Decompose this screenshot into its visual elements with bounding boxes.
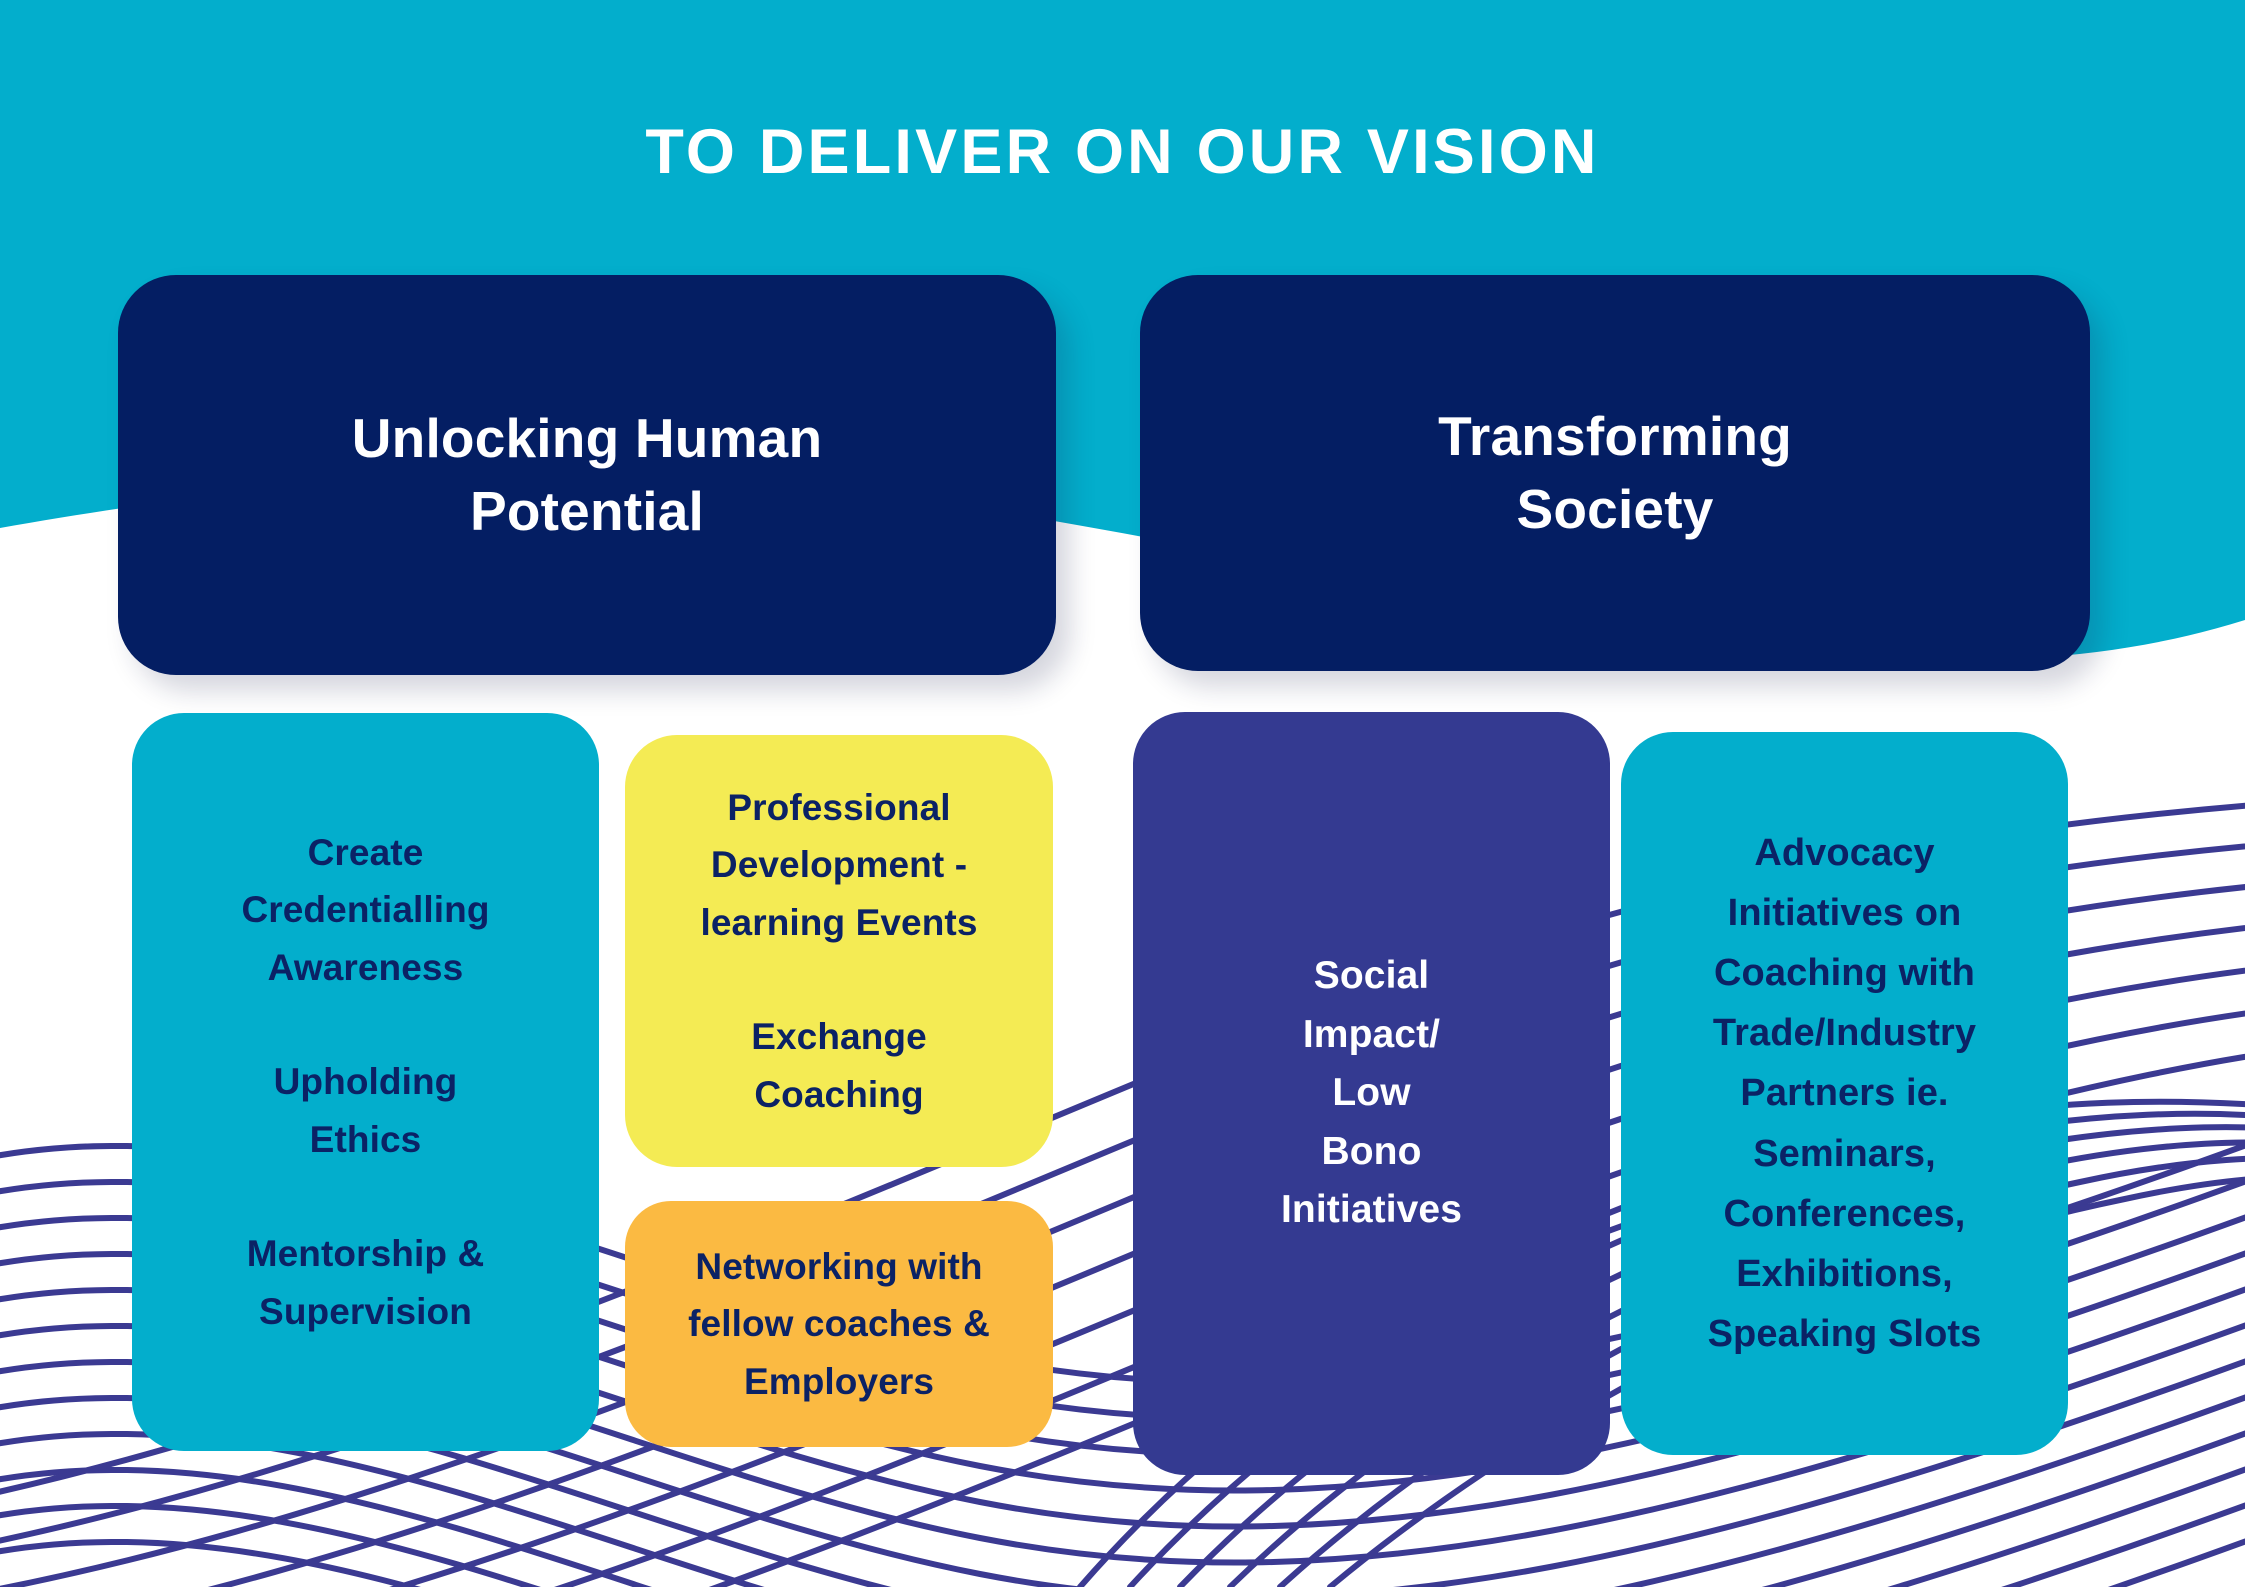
initiative-card-networking: Networking with fellow coaches & Employe… xyxy=(625,1201,1053,1447)
pillar-card-transforming-society: Transforming Society xyxy=(1140,275,2090,671)
initiative-card-label: Professional Development - learning Even… xyxy=(700,779,977,1123)
initiative-card-credentialling: Create Credentialling Awareness Upholdin… xyxy=(132,713,599,1451)
pillar-card-label: Unlocking Human Potential xyxy=(352,402,823,547)
initiative-card-label: Advocacy Initiatives on Coaching with Tr… xyxy=(1708,823,1982,1363)
slide-canvas: TO DELIVER ON OUR VISION Unlocking Human… xyxy=(0,0,2245,1587)
initiative-card-advocacy: Advocacy Initiatives on Coaching with Tr… xyxy=(1621,732,2068,1455)
pillar-card-unlocking-human-potential: Unlocking Human Potential xyxy=(118,275,1056,675)
initiative-card-label: Create Credentialling Awareness Upholdin… xyxy=(241,824,489,1340)
initiative-card-professional-development: Professional Development - learning Even… xyxy=(625,735,1053,1167)
initiative-card-social-impact: Social Impact/ Low Bono Initiatives xyxy=(1133,712,1610,1475)
pillar-card-label: Transforming Society xyxy=(1438,400,1792,545)
page-title: TO DELIVER ON OUR VISION xyxy=(0,118,2245,187)
initiative-card-label: Social Impact/ Low Bono Initiatives xyxy=(1281,947,1462,1240)
initiative-card-label: Networking with fellow coaches & Employe… xyxy=(688,1238,990,1410)
